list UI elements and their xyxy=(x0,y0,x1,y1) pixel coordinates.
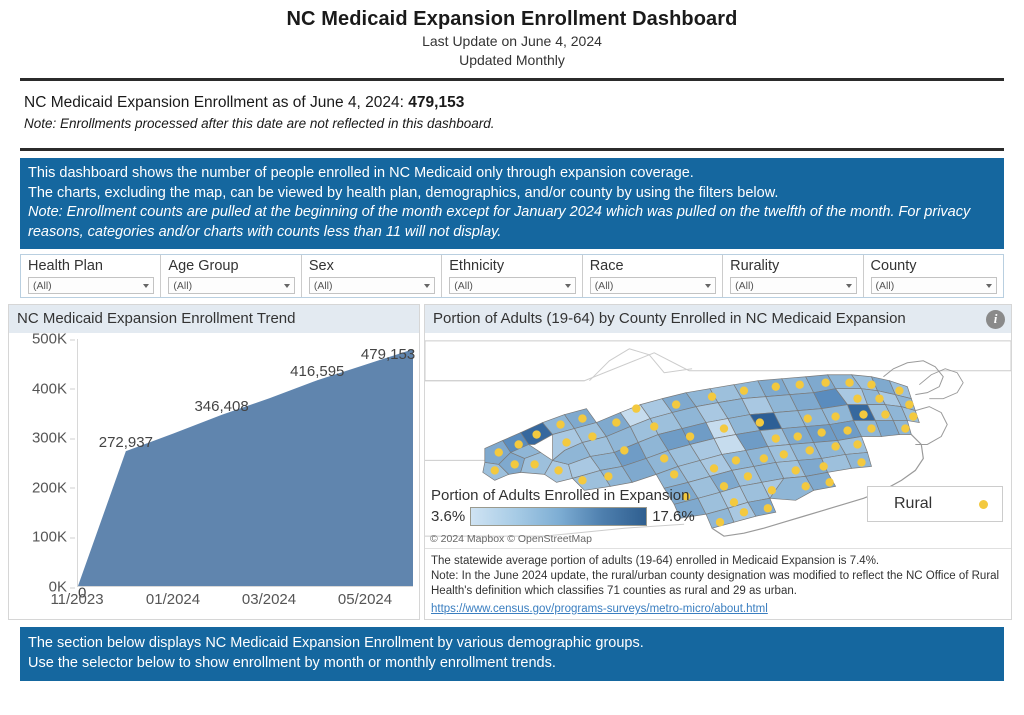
chart-point-label: 416,595 xyxy=(290,363,344,380)
filter-race[interactable]: Race (All) xyxy=(583,255,723,297)
filter-county[interactable]: County (All) xyxy=(864,255,1003,297)
filter-rurality[interactable]: Rurality (All) xyxy=(723,255,863,297)
chevron-down-icon[interactable] xyxy=(565,284,571,288)
filter-label-rurality: Rurality xyxy=(730,257,856,275)
update-frequency-text: Updated Monthly xyxy=(0,51,1024,70)
census-link[interactable]: https://www.census.gov/programs-surveys/… xyxy=(431,602,768,617)
chevron-down-icon[interactable] xyxy=(143,284,149,288)
section-description-banner: The section below displays NC Medicaid E… xyxy=(20,627,1004,681)
map-footnote-line-1: The statewide average portion of adults … xyxy=(431,554,1007,569)
map-legend-min-value: 3.6% xyxy=(431,508,465,525)
chart-x-tick: 11/2023 xyxy=(50,591,103,608)
chevron-down-icon[interactable] xyxy=(986,284,992,288)
filter-label-health-plan: Health Plan xyxy=(28,257,154,275)
dashboard-content: NC Medicaid Expansion Enrollment Trend 0… xyxy=(8,304,1016,620)
enrollment-summary-note: Note: Enrollments processed after this d… xyxy=(24,114,1024,134)
chart-point-label: 479,153 xyxy=(361,346,415,363)
last-update-text: Last Update on June 4, 2024 xyxy=(0,32,1024,51)
enrollment-summary-label: NC Medicaid Expansion Enrollment as of J… xyxy=(24,94,408,111)
filter-select-sex[interactable]: (All) xyxy=(309,277,435,294)
bottom-banner-line-1: The section below displays NC Medicaid E… xyxy=(28,634,996,654)
chart-plot-area[interactable]: 0272,937346,408416,595479,153 xyxy=(77,339,413,587)
filter-value-sex: (All) xyxy=(314,279,333,293)
chart-y-tick: 200K xyxy=(32,479,67,496)
chevron-down-icon[interactable] xyxy=(424,284,430,288)
map-legend-gradient xyxy=(470,507,647,526)
filter-select-county[interactable]: (All) xyxy=(871,277,997,294)
chart-y-tick: 100K xyxy=(32,529,67,546)
page-title: NC Medicaid Expansion Enrollment Dashboa… xyxy=(0,6,1024,32)
county-map-title-text: Portion of Adults (19-64) by County Enro… xyxy=(433,309,906,329)
map-legend-title: Portion of Adults Enrolled in Expansion xyxy=(431,486,743,506)
enrollment-summary: NC Medicaid Expansion Enrollment as of J… xyxy=(0,81,1024,140)
chart-x-axis: 11/202301/202403/202405/2024 xyxy=(77,589,413,613)
chart-x-tick: 05/2024 xyxy=(338,591,392,608)
map-legend-max-value: 17.6% xyxy=(652,508,695,525)
chart-point-label: 272,937 xyxy=(99,434,153,451)
chart-x-tick: 03/2024 xyxy=(242,591,296,608)
county-map-title: Portion of Adults (19-64) by County Enro… xyxy=(425,305,1011,333)
filter-label-race: Race xyxy=(590,257,716,275)
map-footnote: The statewide average portion of adults … xyxy=(425,549,1011,619)
dashboard-description-banner: This dashboard shows the number of peopl… xyxy=(20,158,1004,249)
chart-y-tick: 500K xyxy=(32,331,67,348)
chart-y-tick: 400K xyxy=(32,380,67,397)
chart-area-series xyxy=(78,339,413,586)
chevron-down-icon[interactable] xyxy=(284,284,290,288)
map-color-legend: Portion of Adults Enrolled in Expansion … xyxy=(431,486,743,526)
enrollment-summary-line: NC Medicaid Expansion Enrollment as of J… xyxy=(24,92,1024,114)
filter-bar: Health Plan (All) Age Group (All) Sex (A… xyxy=(20,254,1004,298)
filter-value-health-plan: (All) xyxy=(33,279,52,293)
chart-y-tick: 300K xyxy=(32,430,67,447)
chevron-down-icon[interactable] xyxy=(705,284,711,288)
divider-summary xyxy=(20,148,1004,151)
rural-legend-label: Rural xyxy=(894,495,932,513)
filter-value-county: (All) xyxy=(876,279,895,293)
filter-label-ethnicity: Ethnicity xyxy=(449,257,575,275)
filter-select-age-group[interactable]: (All) xyxy=(168,277,294,294)
filter-sex[interactable]: Sex (All) xyxy=(302,255,442,297)
chart-y-axis: 0K100K200K300K400K500K xyxy=(9,339,77,587)
filter-value-race: (All) xyxy=(595,279,614,293)
enrollment-trend-title: NC Medicaid Expansion Enrollment Trend xyxy=(9,305,419,333)
enrollment-trend-title-text: NC Medicaid Expansion Enrollment Trend xyxy=(17,309,295,329)
info-icon[interactable]: i xyxy=(986,310,1005,329)
banner-line-3-note: Note: Enrollment counts are pulled at th… xyxy=(28,203,996,242)
filter-select-race[interactable]: (All) xyxy=(590,277,716,294)
bottom-banner-line-2: Use the selector below to show enrollmen… xyxy=(28,654,996,674)
filter-select-ethnicity[interactable]: (All) xyxy=(449,277,575,294)
filter-value-rurality: (All) xyxy=(735,279,754,293)
filter-label-age-group: Age Group xyxy=(168,257,294,275)
filter-select-rurality[interactable]: (All) xyxy=(730,277,856,294)
county-map-panel: Portion of Adults (19-64) by County Enro… xyxy=(424,304,1012,620)
chart-point-label: 346,408 xyxy=(194,398,248,415)
filter-value-age-group: (All) xyxy=(173,279,192,293)
enrollment-trend-panel: NC Medicaid Expansion Enrollment Trend 0… xyxy=(8,304,420,620)
dashboard-header: NC Medicaid Expansion Enrollment Dashboa… xyxy=(0,0,1024,70)
filter-value-ethnicity: (All) xyxy=(454,279,473,293)
filter-ethnicity[interactable]: Ethnicity (All) xyxy=(442,255,582,297)
filter-label-sex: Sex xyxy=(309,257,435,275)
enrollment-total-value: 479,153 xyxy=(408,94,464,111)
banner-line-1: This dashboard shows the number of peopl… xyxy=(28,164,996,184)
chevron-down-icon[interactable] xyxy=(846,284,852,288)
rural-dot-icon xyxy=(979,500,988,509)
enrollment-trend-chart[interactable]: 0K100K200K300K400K500K 0272,937346,40841… xyxy=(9,333,419,619)
map-footnote-line-2: Note: In the June 2024 update, the rural… xyxy=(431,569,1007,599)
rural-legend: Rural xyxy=(867,486,1003,522)
chart-x-tick: 01/2024 xyxy=(146,591,200,608)
filter-label-county: County xyxy=(871,257,997,275)
filter-select-health-plan[interactable]: (All) xyxy=(28,277,154,294)
banner-line-2: The charts, excluding the map, can be vi… xyxy=(28,184,996,204)
filter-health-plan[interactable]: Health Plan (All) xyxy=(21,255,161,297)
filter-age-group[interactable]: Age Group (All) xyxy=(161,255,301,297)
county-choropleth-map[interactable]: Portion of Adults Enrolled in Expansion … xyxy=(425,333,1011,549)
map-attribution: © 2024 Mapbox © OpenStreetMap xyxy=(430,533,592,545)
